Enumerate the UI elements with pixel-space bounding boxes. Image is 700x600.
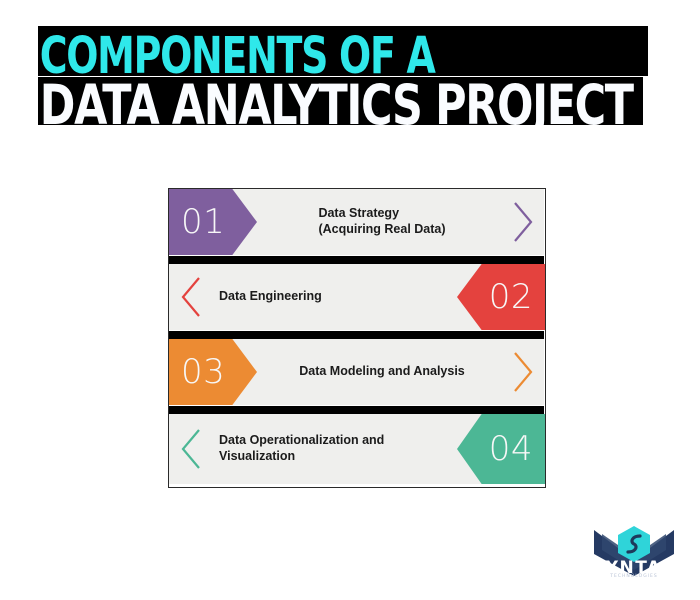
step-label: Data Modeling and Analysis <box>257 339 507 405</box>
step-row[interactable]: 04 Data Operationalization and Visualiza… <box>169 414 545 489</box>
chevron-left-icon <box>173 264 209 330</box>
step-number: 04 <box>489 429 533 469</box>
step-label-line1: Data Engineering <box>219 289 322 305</box>
components-list: 01 Data Strategy (Acquiring Real Data) 0… <box>168 188 546 488</box>
step-label-line1: Data Strategy <box>318 206 445 222</box>
step-row[interactable]: 02 Data Engineering <box>169 264 545 339</box>
chevron-right-icon <box>505 339 541 405</box>
step-label-line1: Data Modeling and Analysis <box>299 364 465 380</box>
step-row[interactable]: 03 Data Modeling and Analysis <box>169 339 545 414</box>
syntax-technologies-logo[interactable]: SYNTAX TECHNOLOGIES <box>592 524 676 584</box>
page-title: COMPONENTS OF A DATA ANALYTICS PROJECT <box>38 26 648 130</box>
title-band-secondary: DATA ANALYTICS PROJECT <box>38 77 643 125</box>
title-line-1: COMPONENTS OF A <box>38 26 563 76</box>
step-label: Data Engineering <box>219 264 449 330</box>
title-line-2: DATA ANALYTICS PROJECT <box>38 77 583 125</box>
chevron-right-icon <box>505 189 541 255</box>
step-label-line2: (Acquiring Real Data) <box>318 222 445 238</box>
step-row[interactable]: 01 Data Strategy (Acquiring Real Data) <box>169 189 545 264</box>
logo-subtitle: TECHNOLOGIES <box>592 574 676 579</box>
title-band-primary: COMPONENTS OF A <box>38 26 648 76</box>
step-number: 01 <box>181 202 225 242</box>
step-label-line1: Data Operationalization and <box>219 433 384 449</box>
step-label: Data Strategy (Acquiring Real Data) <box>257 189 507 255</box>
step-label-line2: Visualization <box>219 449 384 465</box>
step-number: 03 <box>181 352 225 392</box>
chevron-left-icon <box>173 414 209 484</box>
step-number: 02 <box>489 277 533 317</box>
step-label: Data Operationalization and Visualizatio… <box>219 414 459 484</box>
